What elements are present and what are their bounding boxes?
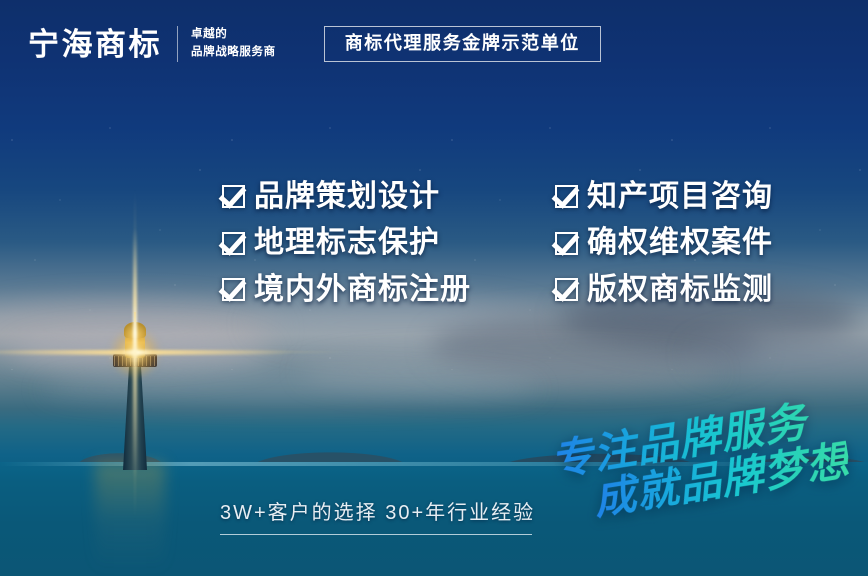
checkbox-checked-icon (555, 232, 578, 255)
feature-item: 境内外商标注册 (222, 269, 471, 310)
feature-list: 品牌策划设计 知产项目咨询 地理标志保护 确权维权案件 境内外商标注册 版权商标… (222, 176, 773, 310)
brand-logo[interactable]: 宁海商标 卓越的 品牌战略服务商 (28, 26, 276, 62)
feature-item: 知产项目咨询 (555, 176, 773, 217)
stats-tagline-text: 3W+客户的选择 30+年行业经验 (220, 500, 532, 526)
feature-label: 知产项目咨询 (587, 176, 773, 217)
brand-subtitle: 卓越的 品牌战略服务商 (191, 26, 276, 62)
feature-label: 地理标志保护 (254, 222, 440, 263)
lighthouse-icon (104, 300, 166, 470)
logo-divider (177, 26, 178, 62)
brand-subtitle-line-1: 卓越的 (191, 26, 276, 44)
feature-item: 确权维权案件 (555, 222, 773, 263)
promotional-banner: 宁海商标 卓越的 品牌战略服务商 商标代理服务金牌示范单位 品牌策划设计 知产项… (0, 0, 868, 576)
feature-label: 境内外商标注册 (254, 269, 471, 310)
feature-label: 品牌策划设计 (254, 176, 440, 217)
beacon-water-reflection (95, 462, 165, 572)
banner-header: 宁海商标 卓越的 品牌战略服务商 商标代理服务金牌示范单位 (0, 0, 868, 88)
brand-subtitle-line-2: 品牌战略服务商 (191, 44, 276, 62)
feature-item: 品牌策划设计 (222, 176, 471, 217)
checkbox-checked-icon (222, 278, 245, 301)
checkbox-checked-icon (222, 232, 245, 255)
feature-label: 版权商标监测 (587, 269, 773, 310)
brand-name: 宁海商标 (28, 29, 162, 60)
checkbox-checked-icon (555, 278, 578, 301)
stats-tagline: 3W+客户的选择 30+年行业经验 (220, 500, 532, 535)
certification-badge: 商标代理服务金牌示范单位 (324, 26, 601, 63)
checkbox-checked-icon (555, 185, 578, 208)
feature-label: 确权维权案件 (587, 222, 773, 263)
tagline-underline (220, 534, 532, 535)
feature-item: 地理标志保护 (222, 222, 471, 263)
checkbox-checked-icon (222, 185, 245, 208)
beacon-flare-horizontal (0, 350, 292, 355)
feature-item: 版权商标监测 (555, 269, 773, 310)
beacon-flare-vertical (133, 228, 137, 478)
